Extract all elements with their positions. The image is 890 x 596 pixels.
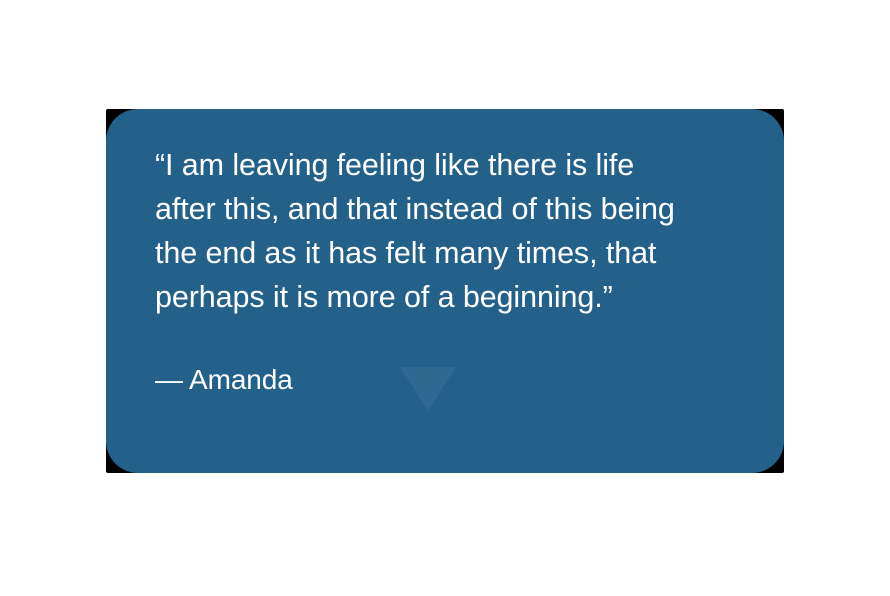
testimonial-canvas: “I am leaving feeling like there is life… (0, 0, 890, 596)
card-content: “I am leaving feeling like there is life… (155, 143, 744, 397)
quote-text: “I am leaving feeling like there is life… (155, 143, 744, 319)
testimonial-card-wrapper: “I am leaving feeling like there is life… (106, 109, 784, 473)
testimonial-card: “I am leaving feeling like there is life… (106, 109, 784, 473)
quote-attribution: — Amanda (155, 319, 744, 397)
